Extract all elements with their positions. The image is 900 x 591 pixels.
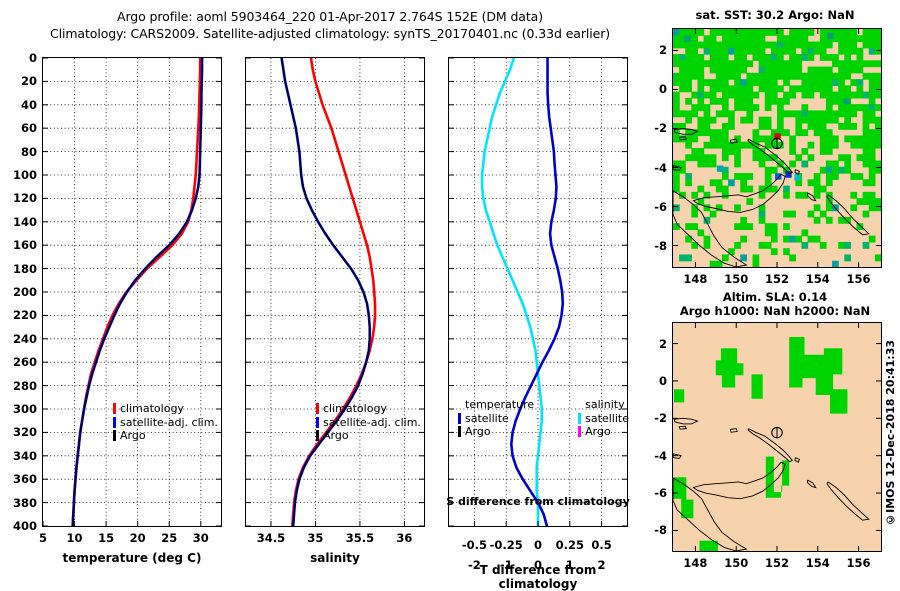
- legend-item: climatology: [113, 402, 218, 416]
- legend-color-swatch: [578, 413, 581, 424]
- depth-tick-label: 180: [3, 262, 37, 276]
- depth-tick-label: 380: [3, 496, 37, 510]
- legend-item-label: satellite: [585, 412, 629, 426]
- legend-item-label: Argo: [323, 429, 349, 443]
- depth-tick-label: 360: [3, 472, 37, 486]
- x-tick-label: 35.5: [335, 531, 385, 545]
- x-tick-label: 30: [176, 531, 226, 545]
- legend-item: Argo: [316, 429, 421, 443]
- sla-map-canvas: [673, 323, 881, 551]
- salinity-difference-tick-label: 0.5: [577, 538, 627, 552]
- longitude-tick-label: 156: [834, 556, 884, 570]
- legend-item: satellite-adj. clim.: [316, 416, 421, 430]
- depth-tick-label: 220: [3, 308, 37, 322]
- depth-tick-label: 40: [3, 98, 37, 112]
- latitude-tick-label: -4: [639, 449, 667, 463]
- x-tick-label: 36: [379, 531, 429, 545]
- depth-tick-label: 280: [3, 379, 37, 393]
- legend-color-swatch: [458, 426, 461, 437]
- legend-item: satellite-adj. clim.: [113, 416, 218, 430]
- latitude-tick-label: -2: [639, 121, 667, 135]
- sst-map-title: sat. SST: 30.2 Argo: NaN: [655, 8, 895, 22]
- figure-title-line1: Argo profile: aoml 5903464_220 01-Apr-20…: [0, 9, 660, 24]
- legend-item-label: climatology: [120, 402, 184, 416]
- legend-column-header: temperature: [465, 398, 534, 412]
- legend-item-label: Argo: [120, 429, 146, 443]
- salinity-difference-axis-label: S difference from climatology: [443, 495, 633, 508]
- difference-profile-plot: [449, 58, 627, 526]
- legend-item-label: Argo: [465, 425, 491, 439]
- legend-item-label: Argo: [585, 425, 611, 439]
- legend-item-label: satellite-adj. clim.: [120, 416, 218, 430]
- latitude-tick-label: 2: [639, 43, 667, 57]
- sst-map[interactable]: [672, 28, 882, 268]
- depth-tick-label: 120: [3, 191, 37, 205]
- legend-item: Argo: [113, 429, 218, 443]
- latitude-tick-label: 0: [639, 374, 667, 388]
- temperature-difference-axis-label: T difference from climatology: [443, 563, 633, 591]
- salinity-profile-panel: [245, 57, 425, 527]
- salinity-profile-plot: [246, 58, 424, 526]
- depth-tick-label: 0: [3, 51, 37, 65]
- depth-tick-label: 100: [3, 168, 37, 182]
- temperature-xaxis-label: temperature (deg C): [42, 551, 222, 565]
- x-tick-label: 35: [290, 531, 340, 545]
- legend-color-swatch: [316, 417, 319, 428]
- temperature-profile-panel: [42, 57, 222, 527]
- latitude-tick-label: -8: [639, 239, 667, 253]
- difference-legend: temperaturesatelliteArgosalinitysatellit…: [458, 398, 629, 439]
- sst-map-canvas: [673, 29, 881, 267]
- legend-item: satellite: [578, 412, 629, 426]
- sla-map-title-line2: Argo h1000: NaN h2000: NaN: [655, 304, 895, 318]
- depth-tick-label: 300: [3, 402, 37, 416]
- sla-map-title-line1: Altim. SLA: 0.14: [655, 290, 895, 304]
- legend-item: Argo: [458, 425, 534, 439]
- depth-tick-label: 200: [3, 285, 37, 299]
- argo-profile-figure: Argo profile: aoml 5903464_220 01-Apr-20…: [0, 0, 900, 580]
- depth-tick-label: 160: [3, 238, 37, 252]
- legend-color-swatch: [113, 417, 116, 428]
- figure-title-line2: Climatology: CARS2009. Satellite-adjuste…: [0, 26, 660, 41]
- latitude-tick-label: -6: [639, 486, 667, 500]
- difference-profile-panel: [448, 57, 628, 527]
- legend-item: climatology: [316, 402, 421, 416]
- depth-tick-label: 80: [3, 145, 37, 159]
- legend-color-swatch: [113, 430, 116, 441]
- depth-tick-label: 340: [3, 449, 37, 463]
- longitude-tick-label: 156: [834, 272, 884, 286]
- legend-color-swatch: [316, 430, 319, 441]
- legend-column: salinitysatelliteArgo: [578, 398, 629, 439]
- legend-item-label: satellite: [465, 412, 509, 426]
- latitude-tick-label: 2: [639, 337, 667, 351]
- salinity-xaxis-label: salinity: [245, 551, 425, 565]
- legend-color-swatch: [316, 403, 319, 414]
- legend-item-label: satellite-adj. clim.: [323, 416, 421, 430]
- latitude-tick-label: 0: [639, 82, 667, 96]
- latitude-tick-label: -4: [639, 161, 667, 175]
- legend-column: temperaturesatelliteArgo: [458, 398, 534, 439]
- legend-item: Argo: [578, 425, 629, 439]
- latitude-tick-label: -8: [639, 523, 667, 537]
- depth-tick-label: 240: [3, 332, 37, 346]
- legend-item: satellite: [458, 412, 534, 426]
- depth-tick-label: 20: [3, 74, 37, 88]
- temperature-legend: climatologysatellite-adj. clim.Argo: [113, 402, 218, 443]
- temperature-profile-plot: [43, 58, 221, 526]
- imos-watermark: ©IMOS 12-Dec-2018 20:41:33: [884, 340, 897, 526]
- legend-item-label: climatology: [323, 402, 387, 416]
- depth-tick-label: 320: [3, 425, 37, 439]
- depth-tick-label: 260: [3, 355, 37, 369]
- legend-color-swatch: [113, 403, 116, 414]
- depth-tick-label: 60: [3, 121, 37, 135]
- salinity-legend: climatologysatellite-adj. clim.Argo: [316, 402, 421, 443]
- latitude-tick-label: -6: [639, 200, 667, 214]
- sla-map[interactable]: [672, 322, 882, 552]
- latitude-tick-label: -2: [639, 411, 667, 425]
- legend-color-swatch: [578, 426, 581, 437]
- legend-color-swatch: [458, 413, 461, 424]
- depth-tick-label: 140: [3, 215, 37, 229]
- x-tick-label: 34.5: [246, 531, 296, 545]
- legend-column-header: salinity: [585, 398, 629, 412]
